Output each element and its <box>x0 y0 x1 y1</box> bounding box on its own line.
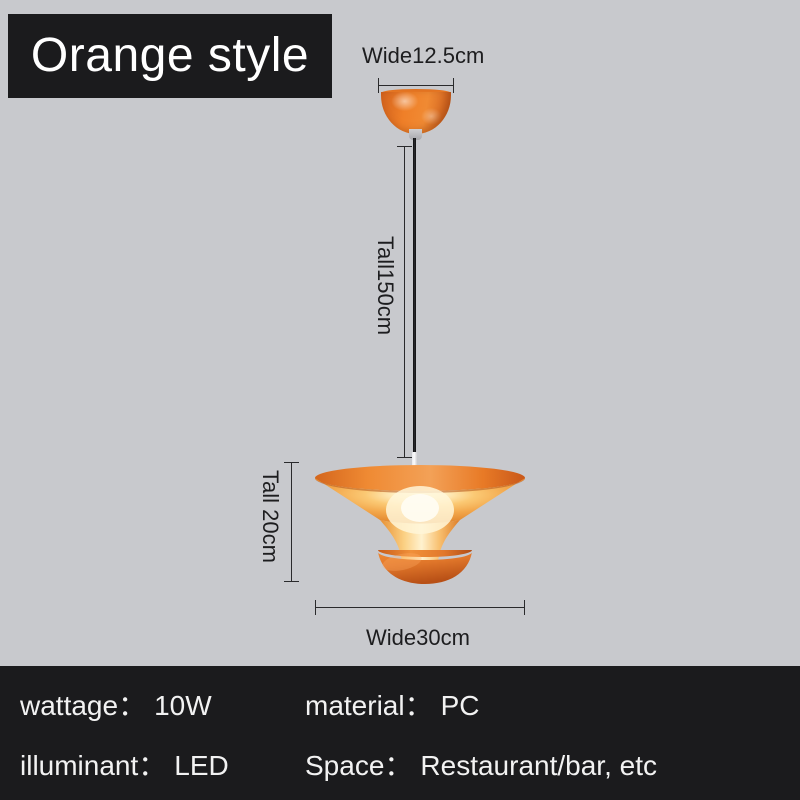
spec-wattage: wattage： 10W <box>20 692 212 720</box>
lamp-shade-graphic <box>310 458 530 588</box>
product-image: Orange style Wide12.5cm Tall150cm Tall 2… <box>0 0 800 800</box>
spec-material-value: PC <box>441 692 480 720</box>
spec-illuminant: illuminant： LED <box>20 752 229 780</box>
title-text: Orange style <box>31 32 309 80</box>
spec-illuminant-value: LED <box>174 752 228 780</box>
spec-space-label: Space： <box>305 752 412 780</box>
spec-material: material： PC <box>305 692 480 720</box>
title-banner: Orange style <box>8 14 332 98</box>
dimension-label-drop-height: Tall150cm <box>374 236 396 335</box>
spec-illuminant-label: illuminant： <box>20 752 166 780</box>
dimension-bracket-canopy-width <box>378 85 454 86</box>
dimension-label-shade-height: Tall 20cm <box>259 470 281 563</box>
spec-material-label: material： <box>305 692 433 720</box>
dimension-label-shade-width: Wide30cm <box>366 627 470 649</box>
spec-wattage-label: wattage： <box>20 692 146 720</box>
spec-wattage-value: 10W <box>154 692 212 720</box>
dimension-bracket-shade-height <box>291 462 292 582</box>
suspension-cord <box>413 138 416 458</box>
dimension-label-canopy-width: Wide12.5cm <box>362 45 484 67</box>
spec-space-value: Restaurant/bar, etc <box>420 752 657 780</box>
spec-space: Space： Restaurant/bar, etc <box>305 752 657 780</box>
lamp-shade <box>310 458 530 588</box>
dimension-bracket-drop-height <box>404 146 405 458</box>
ceiling-canopy <box>381 92 451 134</box>
dimension-bracket-shade-width <box>315 607 525 608</box>
